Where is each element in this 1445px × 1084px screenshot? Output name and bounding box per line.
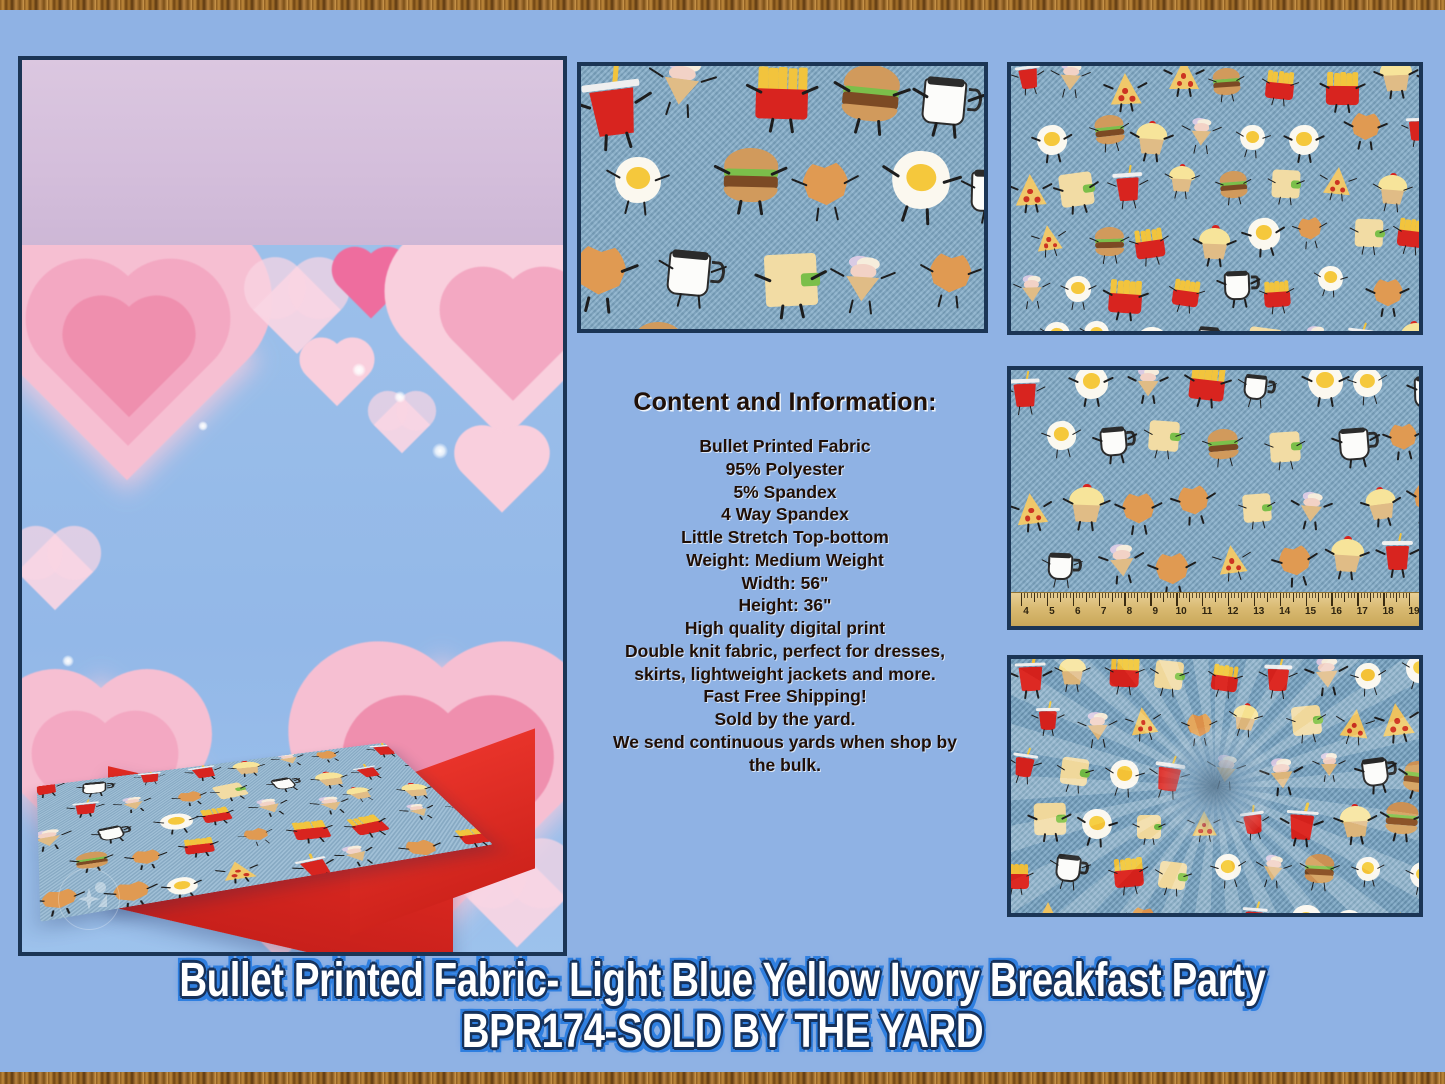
cupcake-motif xyxy=(1198,227,1231,260)
ruler-tick xyxy=(1105,593,1106,598)
heart-decoration xyxy=(90,323,168,401)
fabric-motif-layer xyxy=(581,66,984,329)
ruler-tick xyxy=(1128,593,1129,598)
soda-cup-motif xyxy=(368,744,400,756)
ruler-tick xyxy=(1157,593,1158,598)
ruler-tick xyxy=(1053,593,1054,598)
ruler-tick xyxy=(1247,593,1248,598)
info-line: skirts, lightweight jackets and more. xyxy=(577,663,993,686)
soda-cup-motif xyxy=(72,800,100,815)
ruler-tick xyxy=(1383,593,1384,606)
ruler-tick xyxy=(1289,593,1290,598)
ice-cream-cone-motif xyxy=(838,252,888,302)
info-line: the bulk. xyxy=(577,754,993,777)
soda-cup-motif xyxy=(1112,170,1144,202)
ruler-tick xyxy=(1254,593,1255,606)
ruler-tick xyxy=(1228,593,1229,606)
coffee-mug-motif xyxy=(920,70,976,126)
ruler-tick xyxy=(1170,593,1171,598)
ruler-tick xyxy=(1137,593,1138,602)
ruler-tick xyxy=(1257,593,1258,598)
fried-egg-motif xyxy=(1134,326,1168,335)
ruler-tick xyxy=(1267,593,1268,602)
ruler-tick xyxy=(1073,593,1074,606)
info-line: 5% Spandex xyxy=(577,481,993,504)
ruler-tick xyxy=(1393,593,1394,598)
ruler-tick xyxy=(1212,593,1213,598)
ruler-tick xyxy=(1108,593,1109,598)
sandwich-motif xyxy=(211,782,249,800)
ruler-tick xyxy=(1167,593,1168,598)
ice-cream-cone-motif xyxy=(1133,366,1164,397)
burger-motif xyxy=(1218,170,1247,199)
heart-decoration xyxy=(266,279,328,341)
cupcake-motif xyxy=(1330,538,1365,573)
ruler-tick xyxy=(1057,593,1058,598)
croissant-motif xyxy=(1372,277,1404,309)
fries-motif xyxy=(1171,279,1200,308)
ruler-tick xyxy=(1218,593,1219,598)
pizza-slice-motif xyxy=(1014,491,1048,525)
pizza-slice-motif xyxy=(1109,73,1141,105)
ruler-tick xyxy=(1348,593,1349,598)
ruler-tick xyxy=(1306,593,1307,606)
ruler-tick xyxy=(1244,593,1245,598)
fries-motif xyxy=(183,837,216,855)
ice-cream-cone-motif xyxy=(1422,64,1423,98)
ruler-tick xyxy=(1205,593,1206,598)
pizza-slice-motif xyxy=(220,860,258,881)
ruler-tick xyxy=(1341,593,1342,598)
ruler-tick xyxy=(1396,593,1397,602)
sparkle-dot xyxy=(394,391,406,403)
fried-egg-motif xyxy=(1046,420,1077,451)
ruler-label: 14 xyxy=(1279,606,1290,617)
pizza-slice-motif xyxy=(401,743,430,749)
ruler-tick xyxy=(1367,593,1368,598)
ice-cream-cone-motif xyxy=(1055,62,1086,91)
thumbnail-flat-swatch[interactable] xyxy=(1007,62,1423,335)
sandwich-motif xyxy=(1242,493,1272,523)
coffee-mug-motif xyxy=(664,243,718,297)
sandwich-motif xyxy=(1354,219,1383,248)
croissant-motif xyxy=(1276,542,1314,580)
ruler-tick xyxy=(1286,593,1287,598)
ruler-tick xyxy=(1309,593,1310,598)
ice-cream-cone-motif xyxy=(335,843,377,864)
sandwich-motif xyxy=(1058,171,1096,209)
ruler-tick xyxy=(1121,593,1122,598)
ice-cream-cone-motif xyxy=(1302,324,1331,335)
ruler-tick xyxy=(1276,593,1277,598)
ruler-tick xyxy=(1047,593,1048,606)
thumbnail-ruler-swatch[interactable]: 45678910111213141516171819 xyxy=(1007,366,1423,630)
heart-decoration xyxy=(382,405,422,445)
info-line: Height: 36" xyxy=(577,594,993,617)
ruler-tick xyxy=(1186,593,1187,598)
fried-egg-motif xyxy=(1083,320,1110,335)
content-information-block: Content and Information: Bullet Printed … xyxy=(577,388,993,776)
ruler-tick xyxy=(1050,593,1051,598)
ruler-tick xyxy=(1234,593,1235,598)
ruler-tick xyxy=(1102,593,1103,598)
soda-cup-motif xyxy=(1345,326,1374,335)
fries-motif xyxy=(1265,70,1296,101)
ruler-tick xyxy=(1173,593,1174,598)
ruler-tick xyxy=(1264,593,1265,598)
fried-egg-motif xyxy=(1043,321,1072,335)
pizza-slice-motif xyxy=(1169,62,1199,89)
fries-motif xyxy=(199,806,233,823)
ruler-tick xyxy=(1377,593,1378,598)
ruler-tick xyxy=(1215,593,1216,602)
burger-motif xyxy=(724,147,779,202)
ruler-label: 17 xyxy=(1357,606,1368,617)
ice-cream-cone-motif xyxy=(312,795,350,812)
ruler-label: 7 xyxy=(1101,606,1107,617)
ice-cream-cone-motif xyxy=(1295,490,1328,523)
ruler-tick xyxy=(1066,593,1067,598)
ruler-tick xyxy=(1318,593,1319,602)
fries-motif xyxy=(1133,227,1165,259)
ruler-label: 16 xyxy=(1331,606,1342,617)
ruler-tick xyxy=(1322,593,1323,598)
ice-cream-cone-motif xyxy=(116,795,149,812)
ruler-tick xyxy=(1179,593,1180,598)
fries-motif xyxy=(1263,280,1291,308)
wood-trim-top xyxy=(0,0,1445,10)
ruler-tick xyxy=(1325,593,1326,598)
coffee-mug-motif xyxy=(1223,267,1256,300)
fabric-motif-layer xyxy=(1011,370,1419,626)
ice-cream-cone-motif xyxy=(1017,273,1046,302)
ice-cream-cone-motif xyxy=(272,752,305,766)
sparkle-dot xyxy=(198,421,208,431)
fried-egg-motif xyxy=(1308,366,1343,399)
pizza-slice-motif xyxy=(1323,166,1353,196)
fries-motif xyxy=(1396,218,1423,249)
ruler-tick xyxy=(1302,593,1303,598)
ruler-tick xyxy=(1373,593,1374,598)
main-product-photo[interactable] xyxy=(18,56,567,956)
ice-cream-cone-motif xyxy=(250,796,290,815)
ruler-tick xyxy=(1315,593,1316,598)
croissant-motif xyxy=(1387,421,1419,453)
measuring-ruler: 45678910111213141516171819 xyxy=(1011,592,1419,626)
ruler-tick xyxy=(1241,593,1242,602)
ruler-tick xyxy=(1192,593,1193,598)
heart-decoration xyxy=(470,297,556,383)
thumbnail-swirl-swatch[interactable] xyxy=(1007,655,1423,917)
ruler-tick xyxy=(1037,593,1038,598)
ruler-tick xyxy=(1031,593,1032,598)
fries-motif xyxy=(1326,72,1359,105)
fried-egg-motif xyxy=(1352,367,1384,399)
photo-sky-background xyxy=(22,245,563,956)
fried-egg-motif xyxy=(1316,265,1344,293)
cupcake-motif xyxy=(1379,62,1413,92)
pizza-slice-motif xyxy=(1014,173,1046,205)
ruler-tick xyxy=(1357,593,1358,606)
croissant-motif xyxy=(130,847,163,867)
ruler-tick xyxy=(1082,593,1083,598)
info-line: Bullet Printed Fabric xyxy=(577,435,993,458)
ruler-tick xyxy=(1331,593,1332,606)
cupcake-motif xyxy=(1365,487,1399,521)
pizza-slice-motif xyxy=(1216,543,1247,574)
ruler-tick xyxy=(1409,593,1410,606)
cupcake-motif xyxy=(1400,321,1423,335)
ruler-tick xyxy=(1335,593,1336,598)
ruler-tick xyxy=(1370,593,1371,602)
ruler-tick xyxy=(1403,593,1404,598)
ruler-tick xyxy=(1312,593,1313,598)
coffee-mug-motif xyxy=(1196,323,1225,335)
ruler-tick xyxy=(1124,593,1125,606)
croissant-motif xyxy=(1175,482,1212,519)
ruler-tick xyxy=(1260,593,1261,598)
ruler-tick xyxy=(1280,593,1281,606)
info-line: Sold by the yard. xyxy=(577,708,993,731)
soda-cup-motif xyxy=(138,771,163,783)
burger-motif xyxy=(1212,67,1241,96)
ruler-tick xyxy=(1231,593,1232,598)
croissant-motif xyxy=(800,158,852,210)
ruler-tick xyxy=(1183,593,1184,598)
cupcake-motif xyxy=(1069,486,1105,522)
info-lines: Bullet Printed Fabric95% Polyester5% Spa… xyxy=(577,435,993,776)
soda-cup-motif xyxy=(1015,63,1043,91)
heart-decoration xyxy=(474,445,530,501)
ruler-tick xyxy=(1070,593,1071,598)
fried-egg-motif xyxy=(1238,123,1266,151)
info-line: High quality digital print xyxy=(577,617,993,640)
shop-watermark-icon xyxy=(58,868,120,930)
ruler-tick xyxy=(1163,593,1164,602)
ruler-tick xyxy=(1202,593,1203,606)
info-line: 95% Polyester xyxy=(577,458,993,481)
ruler-tick xyxy=(1351,593,1352,598)
soda-cup-motif xyxy=(1406,116,1423,141)
ruler-tick xyxy=(1209,593,1210,598)
ruler-tick xyxy=(1251,593,1252,598)
ruler-label: 8 xyxy=(1127,606,1133,617)
soda-cup-motif xyxy=(352,765,385,779)
fries-motif xyxy=(1189,366,1227,402)
croissant-motif xyxy=(1410,478,1423,518)
croissant-motif xyxy=(1120,491,1156,527)
croissant-motif xyxy=(174,789,206,805)
fried-egg-motif xyxy=(1036,124,1068,156)
pizza-slice-motif xyxy=(1034,224,1062,252)
ruler-label: 18 xyxy=(1383,606,1394,617)
heart-decoration xyxy=(315,353,359,397)
croissant-motif xyxy=(1153,550,1191,588)
croissant-motif xyxy=(1349,110,1382,143)
sandwich-motif xyxy=(763,253,817,307)
coffee-mug-motif xyxy=(268,775,302,790)
ruler-label: 4 xyxy=(1023,606,1029,617)
fried-egg-motif xyxy=(889,147,954,212)
info-line: Width: 56" xyxy=(577,572,993,595)
ruler-tick xyxy=(1076,593,1077,598)
ruler-label: 15 xyxy=(1305,606,1316,617)
sandwich-motif xyxy=(1271,169,1300,198)
ruler-tick xyxy=(1118,593,1119,598)
ruler-tick xyxy=(1024,593,1025,598)
ruler-tick xyxy=(1086,593,1087,602)
croissant-motif xyxy=(1296,215,1324,243)
ruler-tick xyxy=(1399,593,1400,598)
ruler-tick xyxy=(1099,593,1100,606)
ruler-tick xyxy=(1196,593,1197,598)
burger-motif xyxy=(1093,113,1125,145)
fried-egg-motif xyxy=(1075,366,1108,399)
ruler-tick xyxy=(1115,593,1116,598)
coffee-mug-motif xyxy=(95,823,130,842)
ice-cream-cone-motif xyxy=(654,62,710,108)
fried-egg-motif xyxy=(164,875,200,897)
ruler-tick xyxy=(1131,593,1132,598)
coffee-mug-motif xyxy=(1242,371,1273,402)
cupcake-motif xyxy=(1377,174,1408,205)
soda-cup-motif xyxy=(1382,539,1413,570)
ruler-tick xyxy=(1364,593,1365,598)
ruler-tick xyxy=(1040,593,1041,598)
burger-motif xyxy=(1086,913,1121,917)
burger-motif xyxy=(1206,428,1238,460)
ruler-tick xyxy=(1044,593,1045,598)
ice-cream-cone-motif xyxy=(1187,116,1217,146)
info-line: We send continuous yards when shop by xyxy=(577,731,993,754)
ruler-tick xyxy=(1092,593,1093,598)
ruler-tick xyxy=(1134,593,1135,598)
croissant-motif xyxy=(239,826,274,844)
ruler-tick xyxy=(1160,593,1161,598)
ruler-label: 9 xyxy=(1153,606,1159,617)
ruler-label: 6 xyxy=(1075,606,1081,617)
ruler-tick xyxy=(1189,593,1190,602)
ruler-tick xyxy=(1328,593,1329,598)
thumbnail-closeup-swatch[interactable] xyxy=(577,62,988,333)
coffee-mug-motif xyxy=(1046,550,1077,581)
fries-motif xyxy=(755,66,809,120)
fries-motif xyxy=(290,820,332,840)
cupcake-motif xyxy=(1168,166,1195,193)
ice-cream-cone-motif xyxy=(400,802,436,818)
sandwich-motif xyxy=(1246,326,1283,335)
coffee-mug-motif xyxy=(1098,422,1133,457)
ice-cream-cone-motif xyxy=(1104,541,1141,578)
ruler-tick xyxy=(1095,593,1096,598)
ruler-label: 12 xyxy=(1227,606,1238,617)
ruler-tick xyxy=(1270,593,1271,598)
sparkle-dot xyxy=(352,363,366,377)
ruler-tick xyxy=(1154,593,1155,598)
sandwich-motif xyxy=(1269,431,1301,463)
info-line: Fast Free Shipping! xyxy=(577,685,993,708)
ruler-label: 5 xyxy=(1049,606,1055,617)
ruler-tick xyxy=(1089,593,1090,598)
croissant-motif xyxy=(926,249,974,297)
ruler-tick xyxy=(1299,593,1300,598)
ruler-tick xyxy=(1176,593,1177,606)
cupcake-motif xyxy=(399,783,433,797)
burger-motif xyxy=(1095,226,1125,256)
soda-cup-motif xyxy=(187,764,220,779)
ruler-tick xyxy=(1293,593,1294,602)
ruler-tick xyxy=(1406,593,1407,598)
ruler-tick xyxy=(1063,593,1064,598)
sparkle-dot xyxy=(432,443,448,459)
burger-motif xyxy=(840,63,902,125)
cupcake-motif xyxy=(312,771,348,787)
ruler-tick xyxy=(1338,593,1339,598)
soda-cup-motif xyxy=(1009,376,1040,407)
cupcake-motif xyxy=(1135,122,1168,155)
coffee-mug-motif xyxy=(1413,372,1423,409)
listing-canvas: 45678910111213141516171819 Content and I… xyxy=(0,10,1445,1072)
coffee-mug-motif xyxy=(81,780,110,795)
ruler-label: 10 xyxy=(1176,606,1187,617)
ruler-label: 11 xyxy=(1202,606,1213,617)
fries-motif xyxy=(1108,279,1143,314)
fried-egg-motif xyxy=(1065,276,1092,303)
wood-trim-bottom xyxy=(0,1072,1445,1084)
ruler-tick xyxy=(1344,593,1345,602)
fabric-box-mockup xyxy=(50,590,550,956)
ruler-tick xyxy=(1144,593,1145,598)
ruler-tick xyxy=(1273,593,1274,598)
info-line: Weight: Medium Weight xyxy=(577,549,993,572)
ruler-tick xyxy=(1390,593,1391,598)
ruler-tick xyxy=(1283,593,1284,598)
swirl-center xyxy=(1155,726,1275,846)
ruler-tick xyxy=(1112,593,1113,602)
photo-lavender-band xyxy=(22,60,563,245)
croissant-motif xyxy=(706,329,759,333)
fried-egg-motif xyxy=(1289,125,1319,155)
info-line: 4 Way Spandex xyxy=(577,503,993,526)
ruler-tick xyxy=(1079,593,1080,598)
soda-cup-motif xyxy=(581,74,646,139)
coffee-mug-motif xyxy=(970,165,988,213)
info-line: Little Stretch Top-bottom xyxy=(577,526,993,549)
info-heading: Content and Information: xyxy=(577,388,993,417)
ruler-tick xyxy=(1027,593,1028,598)
ruler-tick xyxy=(1380,593,1381,598)
ruler-tick xyxy=(1150,593,1151,606)
ruler-tick xyxy=(1147,593,1148,598)
info-line: Double knit fabric, perfect for dresses, xyxy=(577,640,993,663)
ruler-tick xyxy=(1225,593,1226,598)
ruler-tick xyxy=(1354,593,1355,598)
ruler-label: 13 xyxy=(1253,606,1264,617)
ruler-label: 19 xyxy=(1408,606,1419,617)
croissant-motif xyxy=(312,749,342,761)
ruler-tick xyxy=(1021,593,1022,606)
ice-cream-cone-motif xyxy=(37,827,68,850)
coffee-mug-motif xyxy=(891,330,944,333)
croissant-motif xyxy=(577,241,630,301)
ruler-tick xyxy=(1238,593,1239,598)
fries-motif xyxy=(345,814,390,835)
ruler-tick xyxy=(1034,593,1035,602)
fried-egg-motif xyxy=(1246,216,1281,251)
ruler-tick xyxy=(1141,593,1142,598)
ruler-tick xyxy=(1199,593,1200,598)
ruler-tick xyxy=(1361,593,1362,598)
